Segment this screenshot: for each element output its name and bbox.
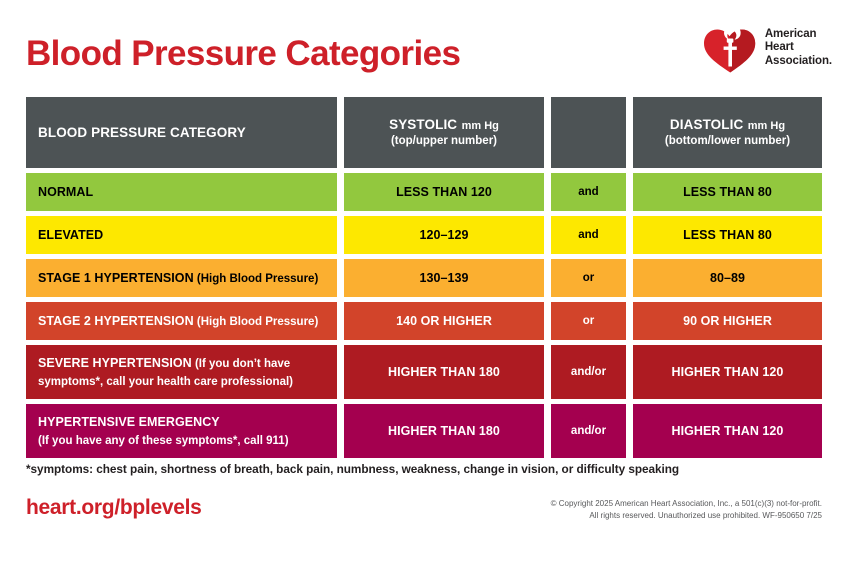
- cell-connector-value: and: [578, 186, 598, 198]
- cell-systolic-value: HIGHER THAN 180: [388, 365, 500, 379]
- site-url-link[interactable]: heart.org/bplevels: [26, 496, 202, 520]
- table-row: ELEVATED120–129andLESS THAN 80: [26, 216, 822, 254]
- cell-connector-value: and/or: [571, 425, 606, 437]
- cell-connector-value: and: [578, 229, 598, 241]
- category-note-line2: symptoms*, call your health care profess…: [38, 376, 293, 388]
- table-row: NORMALLESS THAN 120andLESS THAN 80: [26, 173, 822, 211]
- cell-category: STAGE 2 HYPERTENSION (High Blood Pressur…: [26, 302, 337, 340]
- header-cell-systolic: SYSTOLIC mm Hg (top/upper number): [344, 97, 544, 168]
- cell-category: STAGE 1 HYPERTENSION (High Blood Pressur…: [26, 259, 337, 297]
- logo-line-1: American: [765, 28, 817, 40]
- cell-diastolic-value: 90 OR HIGHER: [683, 314, 772, 328]
- cell-connector: or: [551, 259, 626, 297]
- cell-diastolic: 90 OR HIGHER: [633, 302, 822, 340]
- header-unit-systolic: mm Hg: [462, 120, 499, 132]
- category-note: (If you don’t have: [192, 358, 290, 370]
- table-header-row: BLOOD PRESSURE CATEGORY SYSTOLIC mm Hg (…: [26, 97, 822, 168]
- cell-connector-value: or: [583, 272, 595, 284]
- table-row: HYPERTENSIVE EMERGENCY(If you have any o…: [26, 404, 822, 458]
- copyright-notice: © Copyright 2025 American Heart Associat…: [551, 498, 822, 521]
- aha-logo: American Heart Association.: [702, 22, 832, 74]
- category-note: (High Blood Pressure): [194, 273, 319, 285]
- cell-systolic-value: 120–129: [419, 228, 468, 242]
- aha-heart-torch-logo-icon: [702, 22, 758, 74]
- cell-connector: or: [551, 302, 626, 340]
- cell-systolic: 130–139: [344, 259, 544, 297]
- cell-connector: and: [551, 173, 626, 211]
- cell-systolic-value: LESS THAN 120: [396, 185, 492, 199]
- category-note-line2: (If you have any of these symptoms*, cal…: [38, 435, 289, 447]
- cell-connector-value: or: [583, 315, 595, 327]
- cell-systolic-value: 140 OR HIGHER: [396, 314, 492, 328]
- cell-diastolic: LESS THAN 80: [633, 216, 822, 254]
- category-name: ELEVATED: [38, 228, 103, 242]
- cell-diastolic-value: HIGHER THAN 120: [672, 424, 784, 438]
- copyright-line-1: © Copyright 2025 American Heart Associat…: [551, 498, 822, 510]
- blood-pressure-infographic: Blood Pressure Categories American Heart…: [0, 0, 850, 564]
- cell-category: NORMAL: [26, 173, 337, 211]
- cell-systolic: 120–129: [344, 216, 544, 254]
- cell-diastolic-value: HIGHER THAN 120: [672, 365, 784, 379]
- header-sub-diastolic: (bottom/lower number): [665, 134, 790, 148]
- cell-connector: and/or: [551, 404, 626, 458]
- cell-systolic: 140 OR HIGHER: [344, 302, 544, 340]
- copyright-line-2: All rights reserved. Unauthorized use pr…: [551, 510, 822, 522]
- header-unit-diastolic: mm Hg: [748, 120, 785, 132]
- table-row: STAGE 2 HYPERTENSION (High Blood Pressur…: [26, 302, 822, 340]
- cell-connector: and: [551, 216, 626, 254]
- cell-category: HYPERTENSIVE EMERGENCY(If you have any o…: [26, 404, 337, 458]
- header-cell-connector: [551, 97, 626, 168]
- logo-line-3: Association.: [765, 55, 832, 67]
- cell-diastolic: 80–89: [633, 259, 822, 297]
- cell-diastolic: LESS THAN 80: [633, 173, 822, 211]
- table-row: SEVERE HYPERTENSION (If you don’t havesy…: [26, 345, 822, 399]
- cell-category: SEVERE HYPERTENSION (If you don’t havesy…: [26, 345, 337, 399]
- header-cell-category: BLOOD PRESSURE CATEGORY: [26, 97, 337, 168]
- cell-connector-value: and/or: [571, 366, 606, 378]
- cell-systolic-value: HIGHER THAN 180: [388, 424, 500, 438]
- cell-systolic: LESS THAN 120: [344, 173, 544, 211]
- cell-systolic: HIGHER THAN 180: [344, 345, 544, 399]
- header-sub-systolic: (top/upper number): [389, 134, 499, 148]
- category-note: (High Blood Pressure): [194, 316, 319, 328]
- table-row: STAGE 1 HYPERTENSION (High Blood Pressur…: [26, 259, 822, 297]
- category-name: STAGE 2 HYPERTENSION: [38, 314, 194, 328]
- cell-diastolic: HIGHER THAN 120: [633, 404, 822, 458]
- cell-diastolic-value: LESS THAN 80: [683, 185, 772, 199]
- page-title: Blood Pressure Categories: [26, 36, 460, 71]
- cell-diastolic-value: 80–89: [710, 271, 745, 285]
- header-cell-diastolic: DIASTOLIC mm Hg (bottom/lower number): [633, 97, 822, 168]
- category-name: NORMAL: [38, 185, 93, 199]
- table-body: NORMALLESS THAN 120andLESS THAN 80ELEVAT…: [26, 173, 822, 458]
- cell-systolic: HIGHER THAN 180: [344, 404, 544, 458]
- blood-pressure-table: BLOOD PRESSURE CATEGORY SYSTOLIC mm Hg (…: [26, 97, 822, 458]
- category-name: SEVERE HYPERTENSION: [38, 356, 192, 370]
- header: Blood Pressure Categories American Heart…: [0, 0, 850, 97]
- header-label-diastolic: DIASTOLIC: [670, 117, 743, 132]
- cell-connector: and/or: [551, 345, 626, 399]
- aha-logo-text: American Heart Association.: [765, 28, 832, 69]
- symptoms-footnote: *symptoms: chest pain, shortness of brea…: [26, 462, 679, 476]
- header-label-category: BLOOD PRESSURE CATEGORY: [38, 124, 246, 142]
- logo-line-2: Heart: [765, 41, 794, 53]
- cell-systolic-value: 130–139: [419, 271, 468, 285]
- header-label-systolic: SYSTOLIC: [389, 117, 457, 132]
- category-name: HYPERTENSIVE EMERGENCY: [38, 415, 220, 429]
- category-name: STAGE 1 HYPERTENSION: [38, 271, 194, 285]
- cell-category: ELEVATED: [26, 216, 337, 254]
- cell-diastolic: HIGHER THAN 120: [633, 345, 822, 399]
- cell-diastolic-value: LESS THAN 80: [683, 228, 772, 242]
